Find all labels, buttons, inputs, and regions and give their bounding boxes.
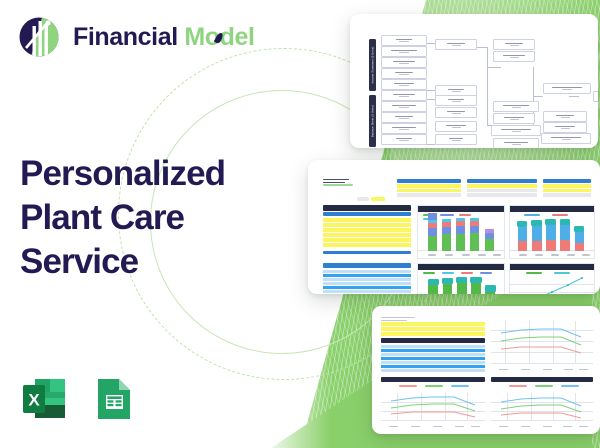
income-statement-band-label: Income Statement (5 Units) <box>371 47 374 84</box>
flow-node <box>381 35 427 46</box>
trend-line-series <box>491 391 593 429</box>
flow-node <box>381 79 427 90</box>
flow-node <box>493 138 539 148</box>
trend-chart-1 <box>491 317 593 373</box>
chart-title-bar <box>510 206 594 212</box>
data-label-badge <box>428 279 439 285</box>
flow-node <box>381 68 427 79</box>
file-format-icons: X <box>19 374 139 424</box>
flow-node <box>381 101 427 112</box>
flow-connector <box>487 47 488 125</box>
flow-node <box>493 51 535 62</box>
flow-node <box>381 112 427 123</box>
brand-logo: Financial Model <box>16 14 255 60</box>
flow-node <box>435 107 477 118</box>
income-statement-table <box>381 317 485 373</box>
page-title-line-1: Personalized <box>20 152 282 196</box>
dupont-analysis-content: Income Statement (5 Units) Balance Sheet… <box>357 21 591 141</box>
income-statement-band: Income Statement (5 Units) <box>369 39 376 91</box>
page-title: Personalized Plant Care Service <box>20 152 282 284</box>
flow-connector <box>569 96 579 97</box>
data-label-badge <box>517 221 528 227</box>
dashboard-kpi-table-3 <box>543 179 591 199</box>
flow-node <box>541 133 591 144</box>
brand-name-primary: Financial <box>73 23 178 51</box>
chart-title-bar <box>381 377 485 382</box>
data-label-badge <box>545 219 556 225</box>
flow-node <box>543 122 587 133</box>
page-title-line-2: Plant Care <box>20 196 282 240</box>
chart-title-bar <box>418 206 504 212</box>
flow-node <box>543 111 587 122</box>
data-label-badge <box>560 219 571 225</box>
cash-flow-chart <box>417 263 505 294</box>
core-inputs-panel <box>323 205 411 257</box>
flow-node <box>381 90 427 101</box>
financial-model-circle-chart-logo <box>16 14 62 60</box>
core-financials-panel <box>323 263 411 294</box>
flow-node <box>435 121 477 132</box>
dashboard-header <box>323 179 387 193</box>
chart-title-bar <box>418 264 504 270</box>
data-label-badge <box>470 277 481 283</box>
dashboard-highlight-pill <box>371 197 385 201</box>
balance-sheet-band: Balance Sheet (5 Units) <box>369 95 376 147</box>
flow-connector <box>487 67 501 68</box>
dashboard-kpi-table-1 <box>397 179 461 199</box>
poster-canvas: Financial Model Personalized Plant Care … <box>0 0 600 448</box>
balance-sheet-band-label: Balance Sheet (5 Units) <box>371 105 374 137</box>
chart-title-bar <box>491 377 593 382</box>
data-label-badge <box>442 278 453 284</box>
flow-node <box>381 57 427 68</box>
flow-node <box>435 134 477 145</box>
microsoft-excel-icon[interactable]: X <box>19 374 69 424</box>
dupont-flow-diagram: Income Statement (5 Units) Balance Sheet… <box>357 21 591 141</box>
svg-text:X: X <box>28 391 40 410</box>
data-label-badge <box>485 285 496 291</box>
trend-chart-3 <box>491 391 593 429</box>
trend-line-series <box>491 317 593 373</box>
financial-dashboard-card[interactable] <box>308 160 600 294</box>
investment-payback-chart <box>509 263 595 294</box>
dashboard-kpi-table-2 <box>467 179 537 199</box>
flow-connector <box>533 96 543 97</box>
trend-line-series <box>381 391 485 429</box>
flow-node <box>435 39 477 50</box>
brand-name: Financial Model <box>73 23 255 52</box>
dupont-analysis-card[interactable]: Income Statement (5 Units) Balance Sheet… <box>350 14 598 148</box>
data-label-badge <box>531 220 542 226</box>
flow-node <box>435 95 477 106</box>
payback-line-series <box>510 264 594 294</box>
page-title-line-3: Service <box>20 240 282 284</box>
financial-statements-card[interactable] <box>372 306 600 434</box>
flow-node <box>493 101 539 112</box>
flow-node <box>543 83 591 94</box>
trend-chart-2 <box>381 391 485 429</box>
profitability-chart <box>509 205 595 259</box>
flow-node <box>381 134 427 145</box>
data-label-badge <box>456 277 467 283</box>
flow-node <box>493 113 535 124</box>
flow-node <box>493 39 535 50</box>
data-label-badge <box>574 226 585 232</box>
dashboard-input-pill <box>357 197 369 201</box>
google-sheets-icon[interactable] <box>89 374 139 424</box>
top-5-revenue-streams-chart <box>417 205 505 259</box>
financial-statements-content <box>379 313 593 427</box>
flow-node-return-on-equity <box>593 91 598 102</box>
flow-node <box>491 125 541 136</box>
flow-node <box>381 46 427 57</box>
financial-dashboard-content <box>315 167 593 287</box>
flow-node <box>381 123 427 134</box>
